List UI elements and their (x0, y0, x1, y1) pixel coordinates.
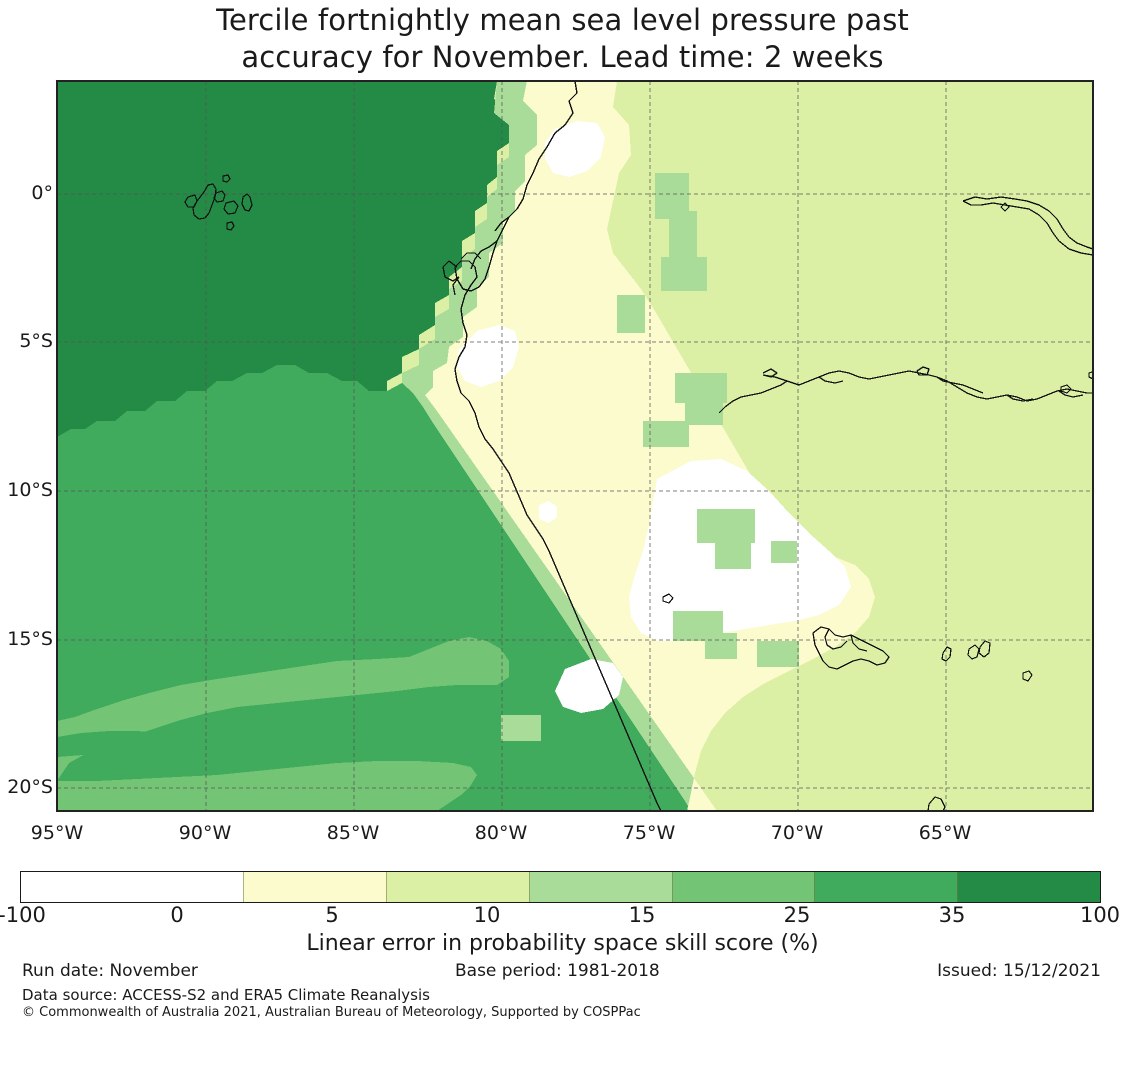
footer-run-date: Run date: November (22, 961, 198, 981)
page-title: Tercile fortnightly mean sea level press… (0, 2, 1125, 76)
y-tick-2: 10°S (7, 479, 53, 501)
map-canvas (57, 81, 1093, 811)
colorbar-tick-4: 15 (629, 903, 656, 927)
colorbar-segment-3[interactable] (529, 872, 672, 902)
colorbar-segment-5[interactable] (814, 872, 957, 902)
y-tick-0: 0° (31, 182, 53, 204)
x-tick-0: 95°W (31, 822, 83, 844)
x-tick-4: 75°W (623, 822, 675, 844)
colorbar-tick-6: 35 (939, 903, 966, 927)
colorbar-tick-labels: -100 0 5 10 15 25 35 100 (0, 903, 1125, 933)
x-tick-2: 85°W (327, 822, 379, 844)
footer-issued-date: Issued: 15/12/2021 (937, 961, 1101, 981)
footer-meta-row: Run date: November Base period: 1981-201… (0, 961, 1125, 985)
colorbar-axis-label: Linear error in probability space skill … (0, 931, 1125, 956)
colorbar-tick-0: -100 (0, 903, 46, 927)
skill-score-map[interactable] (56, 80, 1094, 812)
x-tick-6: 65°W (919, 822, 971, 844)
colorbar-segment-4[interactable] (672, 872, 815, 902)
colorbar-segment-2[interactable] (386, 872, 529, 902)
footer-base-period: Base period: 1981-2018 (455, 961, 660, 981)
colorbar-tick-5: 25 (784, 903, 811, 927)
colorbar-tick-2: 5 (325, 903, 338, 927)
y-tick-1: 5°S (19, 330, 53, 352)
colorbar-segment-6[interactable] (957, 872, 1100, 902)
colorbar-segment-1[interactable] (243, 872, 386, 902)
footer-data-source: Data source: ACCESS-S2 and ERA5 Climate … (22, 986, 430, 1004)
colorbar-segment-0[interactable] (21, 872, 243, 902)
x-tick-3: 80°W (475, 822, 527, 844)
y-tick-4: 20°S (7, 776, 53, 798)
x-tick-1: 90°W (179, 822, 231, 844)
colorbar-tick-7: 100 (1080, 903, 1120, 927)
title-line-1: Tercile fortnightly mean sea level press… (0, 2, 1125, 39)
colorbar-tick-1: 0 (170, 903, 183, 927)
colorbar[interactable] (20, 871, 1101, 903)
title-line-2: accuracy for November. Lead time: 2 week… (0, 39, 1125, 76)
x-tick-5: 70°W (771, 822, 823, 844)
footer-copyright: © Commonwealth of Australia 2021, Austra… (22, 1005, 641, 1020)
colorbar-tick-3: 10 (474, 903, 501, 927)
y-tick-3: 15°S (7, 628, 53, 650)
